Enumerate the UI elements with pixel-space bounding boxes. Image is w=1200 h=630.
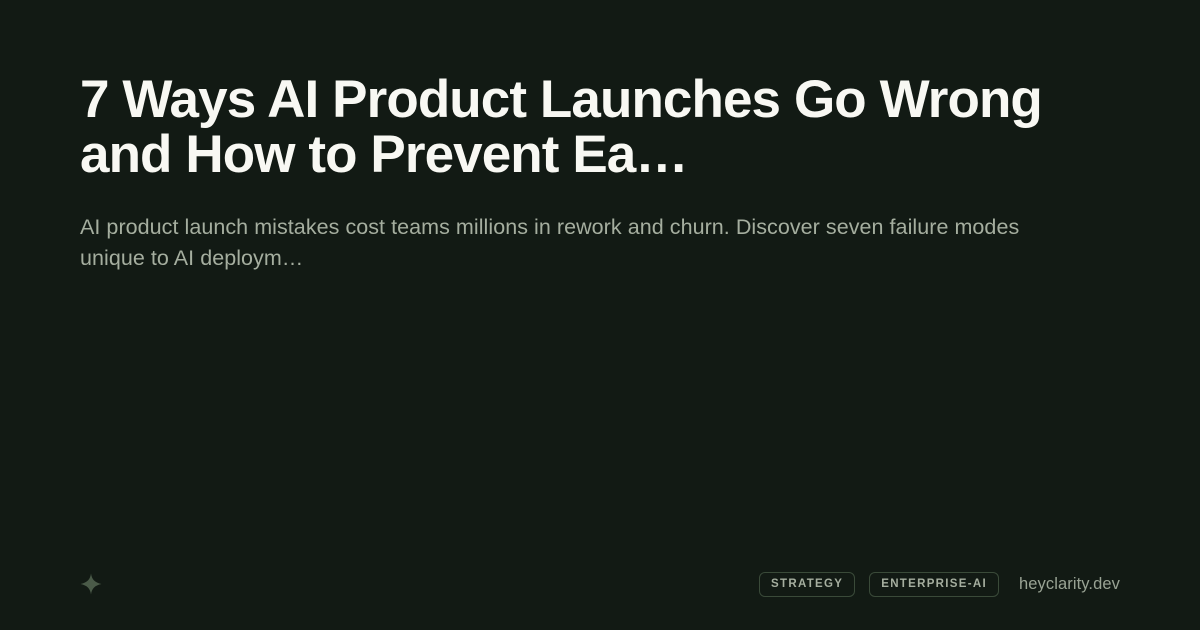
page-description: AI product launch mistakes cost teams mi… <box>80 212 1080 274</box>
tag-strategy[interactable]: STRATEGY <box>759 572 855 597</box>
page-title: 7 Ways AI Product Launches Go Wrong and … <box>80 72 1100 182</box>
card-footer: STRATEGY ENTERPRISE-AI heyclarity.dev <box>0 538 1200 630</box>
content-spacer <box>0 275 1200 538</box>
tag-enterprise-ai[interactable]: ENTERPRISE-AI <box>869 572 999 597</box>
site-domain[interactable]: heyclarity.dev <box>1019 575 1120 594</box>
card-content: 7 Ways AI Product Launches Go Wrong and … <box>0 0 1200 275</box>
footer-meta: STRATEGY ENTERPRISE-AI heyclarity.dev <box>759 572 1120 597</box>
og-share-card: 7 Ways AI Product Launches Go Wrong and … <box>0 0 1200 630</box>
four-pointed-sparkle-icon <box>80 573 102 595</box>
brand-logo <box>80 573 102 595</box>
